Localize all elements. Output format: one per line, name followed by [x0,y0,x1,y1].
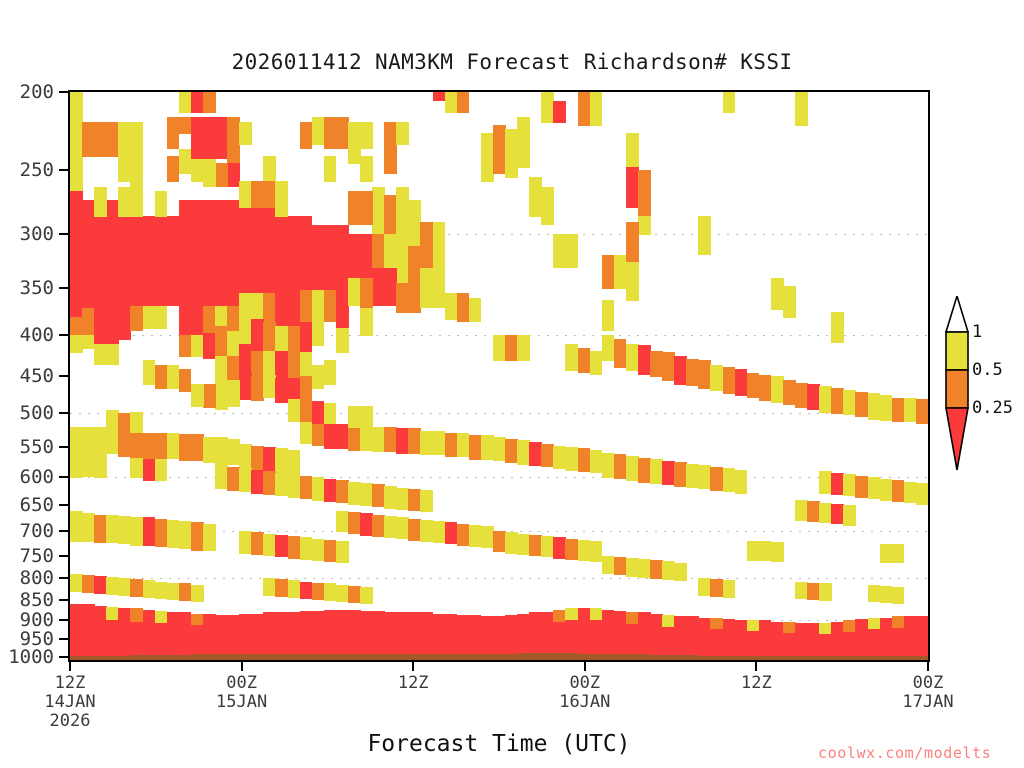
heatmap-cell [106,515,119,543]
heatmap-cell [203,333,216,359]
y-axis-tick [59,91,68,93]
heatmap-cell [433,614,446,659]
heatmap-cell [408,246,421,284]
y-axis-tick [59,656,68,658]
heatmap-cell [819,623,832,635]
heatmap-cell [275,351,288,379]
heatmap-cell [384,195,397,235]
heatmap-cell [118,431,131,457]
heatmap-cell [360,156,373,182]
heatmap-cell [275,448,288,473]
heatmap-cell [360,122,373,149]
heatmap-cell [650,614,663,659]
heatmap-cell [143,459,156,481]
heatmap-cell [904,616,917,659]
heatmap-cell [868,477,881,499]
heatmap-cell [723,92,736,113]
terrain-column [82,656,95,660]
heatmap-cell [239,122,252,144]
heatmap-cell [420,268,433,309]
heatmap-cell [408,283,421,313]
heatmap-cell [82,427,95,454]
heatmap-cell [191,522,204,550]
heatmap-cell [795,383,808,409]
heatmap-cell [710,579,723,597]
heatmap-cell [517,117,530,168]
y-axis-label: 1000 [8,646,54,668]
heatmap-cell [843,474,856,496]
heatmap-cell [94,453,107,478]
heatmap-cell [263,351,276,376]
y-axis-label: 850 [20,589,54,611]
heatmap-cell [203,117,216,159]
x-tick-date: 15JAN [216,693,267,712]
terrain-column [747,656,760,660]
heatmap-cell [783,286,796,317]
heatmap-cell [590,450,603,473]
heatmap-cell [288,450,301,475]
heatmap-cell [553,234,566,268]
heatmap-cell [300,401,313,423]
terrain-column [517,653,530,660]
heatmap-cell [710,467,723,491]
heatmap-cell [263,447,276,472]
y-axis-tick [59,530,68,532]
heatmap-cell [541,536,554,557]
heatmap-cell [348,234,361,279]
heatmap-cell [118,516,131,544]
heatmap-cell [143,517,156,546]
heatmap-cell [143,433,156,460]
heatmap-cell [203,614,216,659]
y-axis-label: 250 [20,159,54,181]
terrain-column [215,654,228,660]
heatmap-cell [614,454,627,479]
heatmap-cell [650,459,663,483]
terrain-column [457,654,470,660]
terrain-column [855,656,868,660]
heatmap-cell [227,380,240,407]
heatmap-cell [529,535,542,556]
heatmap-cell [735,369,748,396]
heatmap-cell [517,614,530,659]
terrain-column [529,653,542,660]
heatmap-cell [336,117,349,149]
heatmap-cell [384,268,397,307]
heatmap-cell [239,444,252,469]
y-axis-tick [59,412,68,414]
x-tick-time: 00Z [216,674,267,693]
heatmap-cell [227,615,240,659]
heatmap-cell [493,616,506,659]
heatmap-cell [868,629,881,659]
heatmap-cell [82,575,95,593]
heatmap-cell [179,434,192,461]
terrain-column [336,654,349,660]
x-tick-year: 2026 [44,712,95,731]
heatmap-cell [179,369,192,393]
terrain-column [384,654,397,660]
heatmap-cell [167,433,180,459]
heatmap-cell [433,257,446,309]
x-tick-date: 14JAN [44,693,95,712]
heatmap-cell [831,622,844,659]
heatmap-cell [916,483,929,505]
heatmap-cell [227,331,240,357]
heatmap-cell [336,328,349,353]
heatmap-cell [70,511,83,542]
heatmap-cell [578,540,591,561]
heatmap-cell [288,293,301,327]
heatmap-cell [565,234,578,268]
heatmap-cell [203,159,216,187]
terrain-column [106,656,119,660]
y-axis-tick [59,504,68,506]
heatmap-cell [372,484,385,507]
x-axis-label: 12Z14JAN2026 [44,674,95,731]
heatmap-cell [408,200,421,246]
heatmap-cell [602,453,615,478]
terrain-column [505,654,518,660]
heatmap-cell [602,255,615,289]
heatmap-cell [505,129,518,178]
heatmap-cell [324,360,337,384]
heatmap-cell [167,156,180,182]
heatmap-cell [578,92,591,126]
y-axis-tick [59,599,68,601]
x-tick-time: 12Z [741,674,772,693]
heatmap-cell [626,222,639,263]
heatmap-cell [191,117,204,159]
heatmap-cell [783,622,796,634]
x-axis-tick [69,662,71,671]
heatmap-cell [167,520,180,547]
heatmap-cell [275,326,288,351]
heatmap-cell [384,486,397,509]
heatmap-cell [239,200,252,294]
terrain-column [710,656,723,660]
heatmap-cell [324,479,337,502]
y-axis-tick [59,334,68,336]
heatmap-cell [408,428,421,453]
heatmap-cell [179,335,192,357]
heatmap-cell [251,376,264,401]
heatmap-cell [710,365,723,391]
heatmap-cell [614,611,627,659]
heatmap-cell [239,373,252,400]
terrain-column [602,654,615,660]
heatmap-cell [312,611,325,659]
heatmap-cell [698,618,711,659]
y-axis-label: 650 [20,494,54,516]
terrain-column [155,655,168,660]
heatmap-cell [638,458,651,482]
terrain-column [843,656,856,660]
heatmap-cell [336,225,349,291]
heatmap-cell [94,344,107,365]
heatmap-cell [94,427,107,454]
heatmap-cell [638,345,651,375]
heatmap-cell [275,612,288,659]
heatmap-cell [106,344,119,365]
terrain-column [698,656,711,660]
heatmap-cell [203,524,216,552]
heatmap-cell [82,513,95,541]
heatmap-cell [735,470,748,494]
heatmap-cell [300,122,313,149]
terrain-column [445,654,458,660]
heatmap-cell [372,427,385,452]
x-axis-label: 12Z [741,674,772,693]
heatmap-cell [227,200,240,307]
terrain-column [723,656,736,660]
terrain-column [312,654,325,660]
heatmap-cell [469,615,482,659]
heatmap-cell [892,587,905,604]
heatmap-cell [469,435,482,460]
heatmap-cell [819,583,832,600]
heatmap-cell [130,412,143,433]
heatmap-cell [203,92,216,113]
terrain-column [650,655,663,660]
heatmap-cell [263,181,276,208]
terrain-column [638,654,651,660]
x-axis-tick [927,662,929,671]
heatmap-cell [251,470,264,494]
heatmap-cell [384,516,397,538]
heatmap-cell [300,582,313,600]
x-tick-date: 16JAN [559,693,610,712]
heatmap-cell [420,490,433,512]
heatmap-cell [626,167,639,208]
heatmap-cell [819,386,832,413]
heatmap-cell [433,431,446,455]
heatmap-cell [457,433,470,457]
heatmap-cell [433,521,446,543]
heatmap-cell [880,618,893,659]
heatmap-cell [179,583,192,600]
heatmap-cell [408,612,421,658]
terrain-column [324,654,337,660]
heatmap-cell [263,322,276,351]
heatmap-cell [529,442,542,466]
heatmap-cell [396,428,409,453]
y-axis-tick [59,233,68,235]
heatmap-cell [396,187,409,235]
heatmap-cell [457,293,470,322]
heatmap-cell [505,615,518,659]
heatmap-cell [251,293,264,319]
heatmap-cell [130,517,143,546]
heatmap-cell [191,384,204,407]
heatmap-cell [70,453,83,478]
heatmap-cell [143,610,156,659]
heatmap-cell [747,373,760,399]
terrain-column [469,654,482,660]
terrain-column [372,654,385,660]
y-axis-tick [59,577,68,579]
heatmap-cell [626,133,639,168]
heatmap-cell [372,187,385,235]
heatmap-cell [686,616,699,658]
heatmap-cell [553,101,566,123]
heatmap-cell [155,623,168,658]
heatmap-cell [372,234,385,268]
heatmap-cell [94,515,107,543]
heatmap-cell [82,122,95,156]
terrain-column [807,656,820,660]
terrain-column [614,654,627,660]
heatmap-cell [251,319,264,351]
heatmap-cell [239,468,252,492]
terrain-column [94,656,107,660]
y-axis-tick [59,446,68,448]
terrain-column [541,653,554,660]
y-axis-label: 550 [20,436,54,458]
heatmap-cell [892,628,905,659]
terrain-column [686,655,699,660]
heatmap-cell [517,335,530,361]
heatmap-cell [541,187,554,226]
heatmap-cell [215,326,228,357]
heatmap-cell [892,480,905,501]
heatmap-cell [723,619,736,659]
heatmap-cell [191,335,204,357]
terrain-column [880,656,893,660]
terrain-column [735,656,748,660]
heatmap-cell [723,367,736,394]
y-axis-label: 200 [20,81,54,103]
terrain-column [360,654,373,660]
heatmap-cell [771,278,784,310]
heatmap-cell [868,393,881,419]
heatmap-cell [106,607,119,620]
heatmap-cell [130,431,143,459]
heatmap-cell [360,426,373,451]
colorbar-svg [944,296,1024,480]
heatmap-cell [312,117,325,144]
heatmap-cell [360,611,373,659]
heatmap-cell [155,365,168,389]
heatmap-cell [179,117,192,134]
terrain-column [408,654,421,660]
heatmap-cell [481,133,494,182]
terrain-column [167,655,180,660]
heatmap-cell [312,583,325,601]
heatmap-cell [626,344,639,371]
heatmap-cell [831,388,844,414]
heatmap-cell [251,181,264,208]
heatmap-cell [565,539,578,560]
y-axis-label: 800 [20,567,54,589]
y-axis-label: 350 [20,277,54,299]
heatmap-cell [807,583,820,601]
heatmap-cell [179,521,192,549]
heatmap-cell [602,335,615,361]
heatmap-cell [831,312,844,342]
colorbar-seg-yellow [946,332,968,370]
terrain-column [819,656,832,660]
heatmap-cell [288,580,301,598]
heatmap-cell [843,390,856,415]
heatmap-cell [831,504,844,524]
heatmap-cell [904,398,917,423]
heatmap-cell [855,619,868,659]
y-axis-label: 600 [20,466,54,488]
heatmap-cell [300,216,313,291]
terrain-column [565,653,578,660]
colorbar-tick-label: 0.25 [972,398,1013,418]
heatmap-cell [300,376,313,401]
heatmap-cell [251,446,264,471]
heatmap-cell [795,623,808,659]
x-axis-label: 00Z16JAN [559,674,610,712]
terrain-column [239,654,252,660]
heatmap-cell [167,216,180,306]
heatmap-cell [505,532,518,553]
heatmap-cell [263,578,276,596]
heatmap-cell [747,620,760,632]
terrain-column [771,656,784,660]
heatmap-cell [360,191,373,226]
heatmap-cell [155,459,168,481]
heatmap-cell [167,365,180,389]
heatmap-cell [336,541,349,563]
heatmap-cell [445,433,458,457]
heatmap-cell [251,532,264,555]
heatmap-cell [747,631,760,659]
heatmap-cell [167,583,180,601]
heatmap-cell [324,225,337,291]
heatmap-cell [916,399,929,424]
heatmap-cell [263,156,276,182]
heatmap-plot-area [68,90,930,662]
heatmap-cell [275,535,288,557]
heatmap-cell [348,122,361,164]
heatmap-cell [578,448,591,472]
heatmap-cell [880,544,893,563]
x-axis-label: 12Z [398,674,429,693]
colorbar: 10.50.25 [944,296,1024,480]
terrain-column [251,654,264,660]
heatmap-cell [167,612,180,659]
heatmap-cell [578,608,591,659]
heatmap-cell [819,503,832,523]
heatmap-cell [336,610,349,659]
heatmap-cell [408,519,421,541]
heatmap-cell [288,536,301,558]
heatmap-cell [118,156,131,182]
heatmap-cell [553,446,566,470]
heatmap-cell [130,458,143,478]
heatmap-cell [179,149,192,174]
terrain-column [868,656,881,660]
heatmap-cell [130,122,143,144]
heatmap-cell [324,117,337,149]
heatmap-cell [457,615,470,659]
heatmap-cell [433,222,446,257]
heatmap-cell [130,216,143,306]
heatmap-cell [372,268,385,307]
heatmap-cell [300,537,313,560]
heatmap-cell [565,447,578,471]
x-axis-tick [584,662,586,671]
heatmap-cell [263,375,276,398]
heatmap-cell [674,356,687,384]
heatmap-cell [493,335,506,361]
heatmap-cell [360,234,373,279]
heatmap-cell [408,489,421,512]
